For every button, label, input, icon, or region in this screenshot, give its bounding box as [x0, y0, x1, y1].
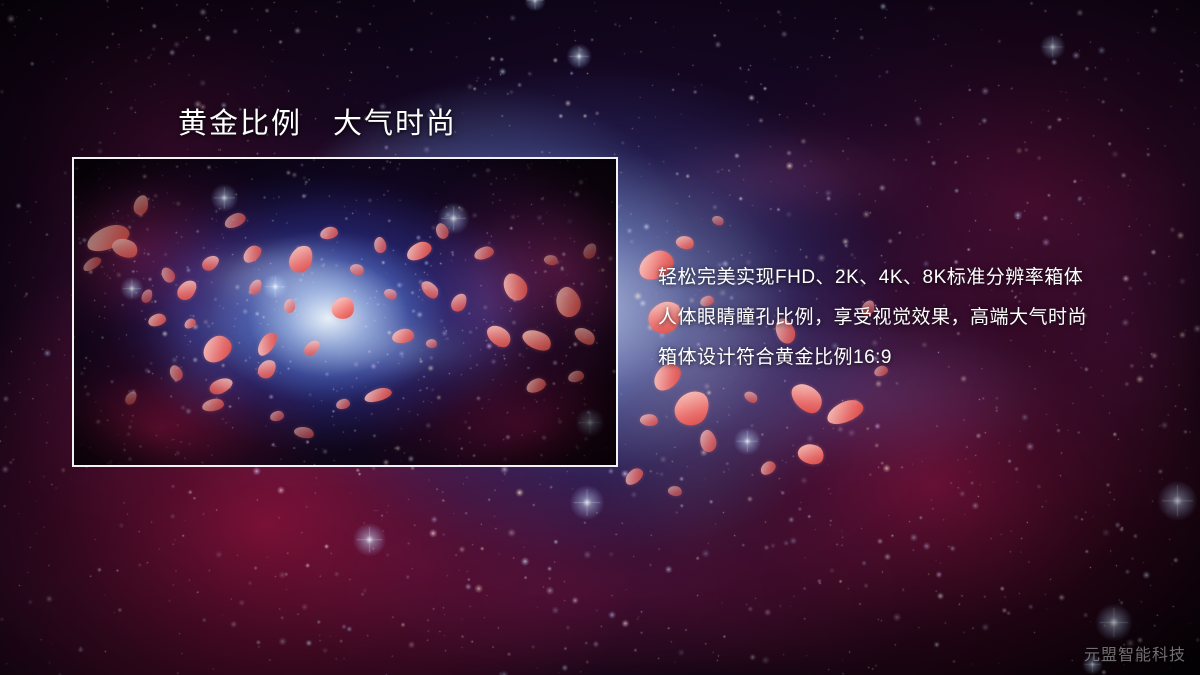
- framed-vignette: [74, 159, 616, 465]
- slide-title: 黄金比例 大气时尚: [178, 100, 457, 142]
- body-line-3: 箱体设计符合黄金比例16:9: [658, 338, 1178, 378]
- body-line-2: 人体眼睛瞳孔比例，享受视觉效果，高端大气时尚: [658, 298, 1178, 338]
- petal: [824, 396, 867, 428]
- body-line-1: 轻松完美实现FHD、2K、4K、8K标准分辨率箱体: [658, 258, 1178, 298]
- body-text-block: 轻松完美实现FHD、2K、4K、8K标准分辨率箱体 人体眼睛瞳孔比例，享受视觉效…: [658, 258, 1178, 378]
- framed-image: [72, 157, 618, 467]
- watermark: 元盟智能科技: [1084, 641, 1186, 665]
- petal: [674, 234, 695, 252]
- slide-canvas: 黄金比例 大气时尚 轻松完美实现FHD、2K、4K、8K标准分辨率箱体 人体眼睛…: [0, 0, 1200, 675]
- petal: [670, 385, 715, 431]
- petal: [639, 413, 659, 428]
- petal: [795, 440, 827, 468]
- framed-image-inner: [74, 159, 616, 465]
- petal: [758, 459, 778, 477]
- petal: [667, 484, 683, 497]
- petal: [787, 377, 828, 418]
- petal: [742, 389, 759, 406]
- petal: [697, 428, 719, 454]
- petal: [622, 465, 646, 487]
- petal: [711, 214, 726, 228]
